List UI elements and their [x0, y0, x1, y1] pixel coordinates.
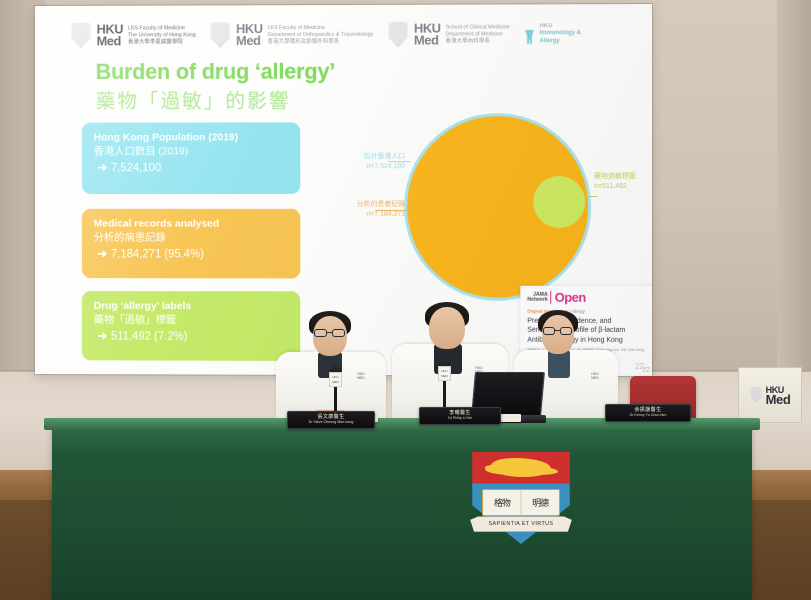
logo-text-ortho: LKS Faculty of Medicine Department of Or… [268, 24, 374, 45]
stat-card-value: 511,492 (7.2%) [111, 331, 187, 343]
coat-logo: HKUMED [586, 372, 604, 380]
glasses-bridge-icon [555, 330, 560, 331]
conference-table [52, 424, 752, 600]
journal-brand: JAMA Network Open [527, 291, 649, 304]
logo-hku-med-clinical: HKU Med School of Clinical Medicine Depa… [387, 21, 509, 47]
slide-title: Burden of drug ‘allergy’ [96, 59, 336, 85]
hku-wordmark-line2: Med [236, 35, 263, 47]
stat-card-title-zh: 分析的病患記錄 [94, 231, 291, 245]
glasses-right-lens-icon [332, 329, 345, 337]
hku-table-crest: 格物 明德 SAPIENTIA ET VIRTUS [468, 452, 574, 544]
logo-immunology-allergy: HKU Immunology & Allergy [524, 23, 581, 46]
logo-text-clinical: School of Clinical Medicine Department o… [446, 24, 510, 45]
hku-crest-icon [209, 22, 231, 48]
nameplate-speaker-1: 張文康醫生 Dr Steve Cheung Man-hong [287, 411, 375, 429]
hku-crest-icon [750, 387, 763, 403]
venn-leader-line-labels [584, 196, 598, 197]
logo-line2: Department of Orthopaedics & Traumatolog… [268, 31, 374, 38]
jama-open-wordmark: Open [555, 291, 586, 304]
arrow-icon: ➔ [98, 331, 107, 343]
venn-label-n: n=511,492 [594, 182, 652, 192]
hku-wordmark: HKU Med [414, 23, 441, 47]
logo-line2: The University of Hong Kong [128, 32, 196, 39]
glasses-bridge-icon [327, 332, 332, 333]
stat-card-value-row: ➔7,524,100 [94, 160, 291, 174]
slide-page-number: 22 [635, 362, 644, 371]
stat-card-allergy-labels: Drug ‘allergy’ labels 藥物「過敏」標籤 ➔511,492 … [82, 291, 300, 361]
arrow-icon: ➔ [98, 162, 107, 174]
inner-shirt [548, 350, 570, 378]
wall-right-panel [777, 0, 811, 372]
stat-card-title-zh: 香港人口數目 (2019) [94, 144, 291, 158]
head [429, 307, 465, 349]
stat-card-title-en: Hong Kong Population (2019) [94, 131, 291, 144]
stat-card-value-row: ➔511,492 (7.2%) [94, 329, 291, 343]
slide-logo-bar: HKU Med LKS Faculty of Medicine The Univ… [35, 4, 652, 59]
venn-circle-allergy-labels [533, 176, 585, 228]
hku-wordmark: HKU Med [236, 23, 263, 47]
ia-line2: Immunology & [539, 30, 581, 38]
nameplate-name-en: Dr Kenny Yu Chun-him [609, 413, 687, 418]
microphone-flag-1: HKU MED [329, 372, 342, 387]
stat-card-records: Medical records analysed 分析的病患記錄 ➔7,184,… [82, 209, 300, 279]
logo-line1: School of Clinical Medicine [446, 24, 510, 31]
crest-motto-left: 格物 [494, 496, 510, 509]
nameplate-speaker-2: 李曦醫生 Dr Philip Li Hei [419, 407, 501, 425]
person-figure-icon [524, 24, 536, 44]
logo-line2: Department of Medicine [446, 31, 510, 38]
glasses-right-lens-icon [560, 327, 572, 335]
stat-card-title-en: Drug ‘allergy’ labels [94, 300, 291, 313]
stat-card-value: 7,184,271 (95.4%) [111, 248, 204, 260]
stat-card-value: 7,524,100 [111, 162, 161, 174]
journal-kicker-topic: Allergy [572, 309, 585, 314]
hku-wordmark-line2: Med [97, 35, 123, 47]
stat-card-value-row: ➔7,184,271 (95.4%) [94, 246, 291, 260]
venn-label-n: n=7,524,100 [326, 162, 405, 172]
hku-wordmark: HKU Med [766, 386, 791, 404]
jama-divider [551, 291, 552, 304]
hku-med-podium-sign: HKU Med [738, 367, 802, 423]
venn-label-text: 藥物過敏標籤 [594, 173, 636, 180]
jama-network-mark: JAMA Network [527, 293, 547, 304]
logo-hku-med-ortho: HKU Med LKS Faculty of Medicine Departme… [209, 22, 373, 48]
stat-card-title-zh: 藥物「過敏」標籤 [94, 313, 291, 327]
venn-label-records: 分析的患者紀錄 n=7,184,271 [318, 200, 405, 220]
lion-icon [491, 458, 550, 476]
hku-crest-icon [387, 22, 409, 48]
coat-logo: HKUMED [352, 372, 370, 380]
immunology-allergy-text: HKU Immunology & Allergy [539, 23, 581, 46]
open-book-icon: 格物 明德 [482, 489, 560, 517]
logo-line3: 香港大學李嘉誠醫學院 [128, 39, 196, 46]
venn-label-n: n=7,184,271 [318, 210, 405, 220]
arrow-icon: ➔ [98, 248, 107, 260]
stat-card-population: Hong Kong Population (2019) 香港人口數目 (2019… [82, 122, 300, 194]
hku-wordmark-line2: Med [414, 35, 441, 47]
logo-line3: 香港大學矯形及創傷外科學系 [268, 38, 374, 45]
glasses-left-lens-icon [314, 329, 327, 337]
hku-wordmark: HKU Med [97, 24, 123, 48]
logo-line3: 香港大學內科學系 [446, 38, 510, 45]
nameplate-speaker-3: 余振謙醫生 Dr Kenny Yu Chun-him [605, 404, 691, 422]
ia-line3: Allergy [539, 38, 581, 46]
slide-subtitle: 藥物「過敏」的影響 [96, 85, 291, 114]
venn-label-allergy: 藥物過敏標籤 n=511,492 [594, 172, 652, 192]
microphone-flag-2: HKU MED [438, 366, 451, 381]
logo-text-faculty: LKS Faculty of Medicine The University o… [128, 25, 196, 46]
hku-crest-icon [70, 23, 92, 49]
crest-motto-right: 明德 [532, 496, 548, 509]
logo-hku-med-faculty: HKU Med LKS Faculty of Medicine The Univ… [70, 22, 196, 48]
venn-label-text: 估計香港人口 [364, 153, 406, 160]
venn-label-population: 估計香港人口 n=7,524,100 [326, 152, 405, 172]
crest-motto-latin: SAPIENTIA ET VIRTUS [470, 516, 572, 532]
glasses-left-lens-icon [543, 327, 555, 335]
nameplate-name-en: Dr Philip Li Hei [423, 416, 497, 421]
jama-line2: Network [527, 298, 547, 304]
nameplate-name-en: Dr Steve Cheung Man-hong [291, 420, 371, 425]
press-conference-scene: HKU Med LKS Faculty of Medicine The Univ… [0, 0, 811, 600]
stat-card-title-en: Medical records analysed [94, 218, 291, 231]
ia-line1: HKU [539, 23, 581, 31]
hku-wordmark-line2: Med [766, 395, 791, 404]
venn-label-text: 分析的患者紀錄 [357, 201, 406, 208]
